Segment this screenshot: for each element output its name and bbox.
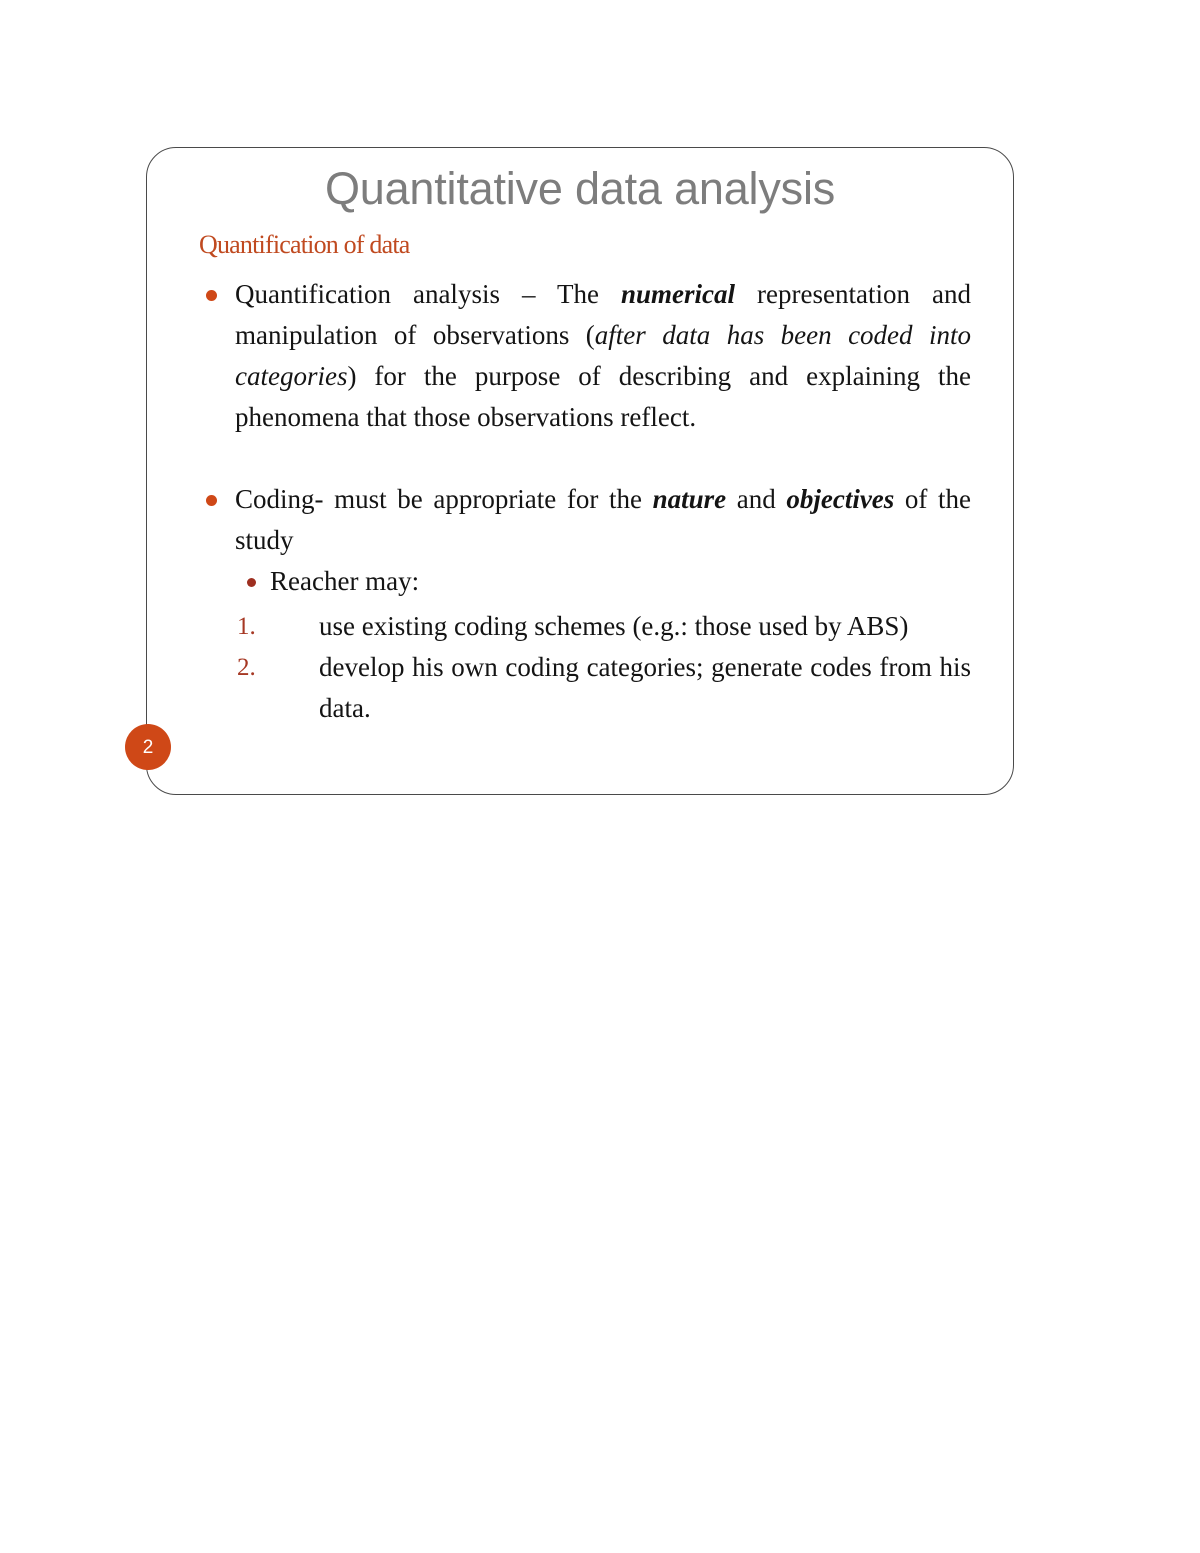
numbered-item-marker: 2. (237, 647, 256, 688)
numbered-item: 1.use existing coding schemes (e.g.: tho… (231, 606, 971, 647)
slide-body: Quantification of data Quantification an… (195, 230, 971, 729)
bullet-coding: Coding- must be appropriate for the natu… (195, 479, 971, 561)
bullet-segment-emphasis: objectives (786, 484, 894, 514)
bullet-segment-text: Quantification analysis – The (235, 279, 621, 309)
page-canvas: Quantitative data analysis Quantificatio… (0, 0, 1200, 1553)
numbered-item-text: use existing coding schemes (e.g.: those… (319, 611, 908, 641)
page-title: Quantitative data analysis (147, 164, 1013, 214)
sub-bullet-reacher-may: Reacher may: (237, 561, 971, 602)
bullet-list: Quantification analysis – The numerical … (195, 274, 971, 561)
numbered-list: 1.use existing coding schemes (e.g.: tho… (195, 606, 971, 729)
numbered-item-text: develop his own coding categories; gener… (319, 652, 971, 723)
bullet-segment-emphasis: nature (653, 484, 727, 514)
bullet-quantification-analysis: Quantification analysis – The numerical … (195, 274, 971, 438)
slide-number-badge: 2 (125, 724, 171, 770)
bullet-segment-text: Coding- must be appropriate for the (235, 484, 653, 514)
bullet-segment-emphasis: numerical (621, 279, 735, 309)
bullet-segment-text: and (726, 484, 786, 514)
sub-heading: Quantification of data (199, 230, 971, 260)
slide-frame: Quantitative data analysis Quantificatio… (146, 147, 1014, 795)
numbered-item-marker: 1. (237, 606, 256, 647)
numbered-item: 2.develop his own coding categories; gen… (231, 647, 971, 729)
